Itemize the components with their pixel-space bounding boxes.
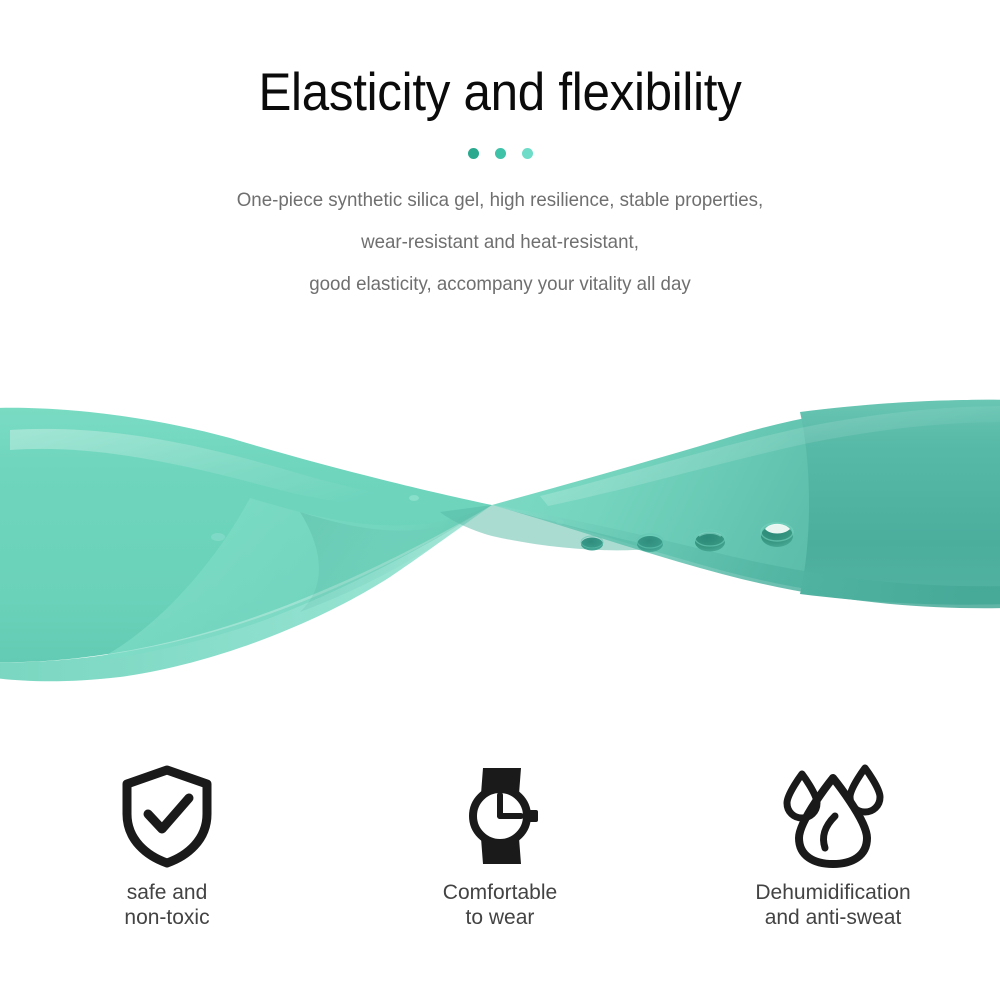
droplet-gloss bbox=[823, 816, 835, 848]
dot-divider bbox=[0, 148, 1000, 159]
subtitle-line-1: One-piece synthetic silica gel, high res… bbox=[20, 179, 980, 221]
shield-check-icon bbox=[119, 760, 215, 872]
feature-label-safe-line-1: safe and bbox=[124, 880, 209, 905]
product-feature-page: Elasticity and flexibility One-piece syn… bbox=[0, 0, 1000, 1000]
hole-1 bbox=[581, 538, 603, 551]
feature-label-dehumidification: Dehumidification and anti-sweat bbox=[755, 880, 910, 930]
surface-speck-2 bbox=[409, 495, 419, 501]
feature-label-safe-line-2: non-toxic bbox=[124, 905, 209, 930]
check-mark bbox=[148, 798, 189, 829]
feature-label-dehumidification-line-2: and anti-sweat bbox=[755, 905, 910, 930]
dot-2 bbox=[495, 148, 506, 159]
dot-1 bbox=[468, 148, 479, 159]
feature-label-safe: safe and non-toxic bbox=[124, 880, 209, 930]
page-title: Elasticity and flexibility bbox=[35, 0, 965, 124]
wristwatch-icon bbox=[452, 760, 548, 872]
surface-speck-3 bbox=[556, 520, 564, 525]
feature-label-comfortable-line-1: Comfortable bbox=[443, 880, 557, 905]
water-droplets-icon bbox=[777, 760, 889, 872]
feature-label-comfortable-line-2: to wear bbox=[443, 905, 557, 930]
feature-dehumidification: Dehumidification and anti-sweat bbox=[667, 760, 1000, 930]
subtitle: One-piece synthetic silica gel, high res… bbox=[0, 179, 1000, 305]
hole-2 bbox=[637, 536, 663, 552]
subtitle-line-3: good elasticity, accompany your vitality… bbox=[20, 263, 980, 305]
subtitle-line-2: wear-resistant and heat-resistant, bbox=[20, 221, 980, 263]
feature-label-comfortable: Comfortable to wear bbox=[443, 880, 557, 930]
feature-safe-non-toxic: safe and non-toxic bbox=[1, 760, 334, 930]
dot-3 bbox=[522, 148, 533, 159]
surface-speck-1 bbox=[211, 533, 225, 541]
feature-comfortable-to-wear: Comfortable to wear bbox=[334, 760, 667, 930]
feature-label-dehumidification-line-1: Dehumidification bbox=[755, 880, 910, 905]
product-image-twisted-silicone-band bbox=[0, 372, 1000, 692]
feature-row: safe and non-toxic bbox=[0, 760, 1000, 960]
header: Elasticity and flexibility One-piece syn… bbox=[0, 0, 1000, 305]
